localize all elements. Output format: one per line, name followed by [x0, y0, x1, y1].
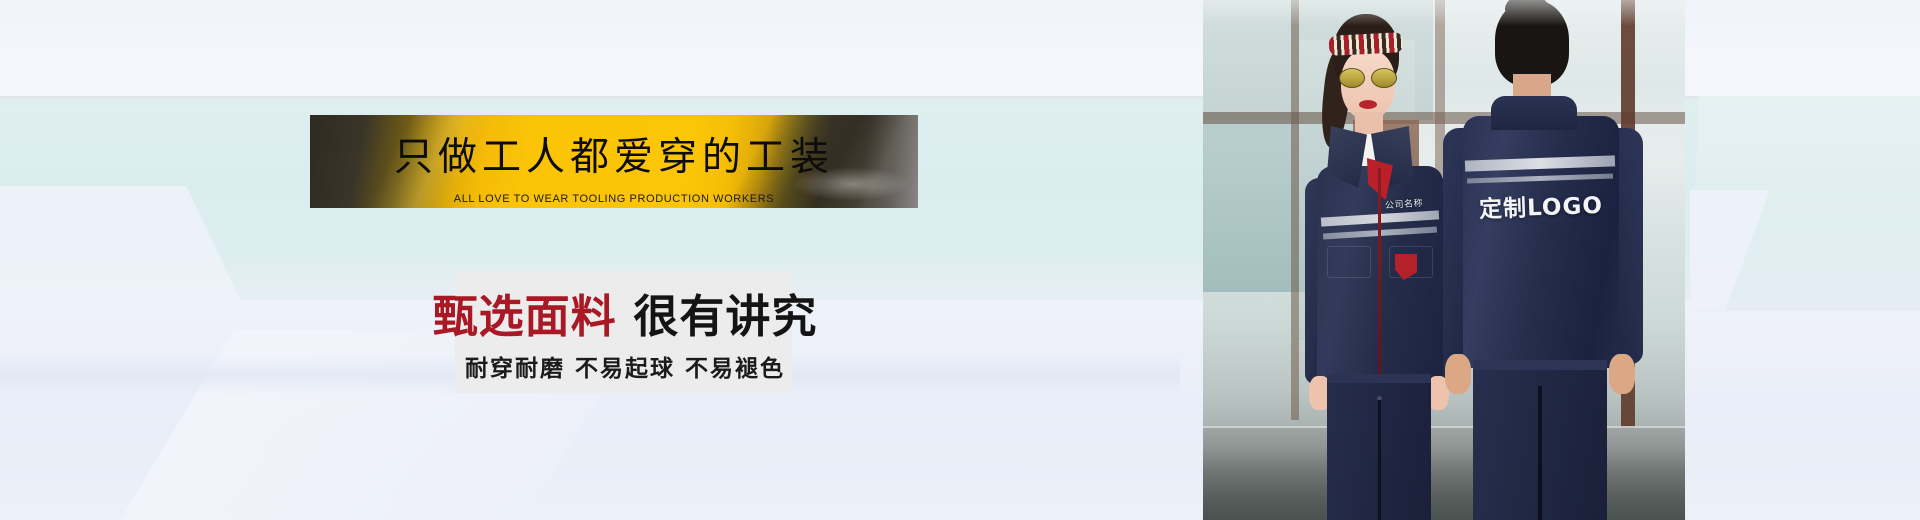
- sunglasses-icon: [1339, 68, 1397, 86]
- product-promo-banner: 只做工人都爱穿的工装 ALL LOVE TO WEAR TOOLING PROD…: [0, 0, 1920, 520]
- male-collar: [1491, 96, 1577, 130]
- female-model: 公司名称: [1299, 8, 1459, 520]
- female-jacket-zipper: [1378, 168, 1381, 382]
- chest-company-name-label: 公司名称: [1385, 196, 1424, 212]
- product-photo: 公司名称 定制LOGO: [1203, 0, 1685, 520]
- male-waistband: [1473, 360, 1607, 370]
- female-waistband: [1327, 374, 1431, 383]
- female-headband: [1329, 32, 1404, 56]
- male-model: 定制LOGO: [1443, 0, 1643, 520]
- sunglasses-lens-right: [1371, 68, 1397, 88]
- female-pocket-left: [1327, 246, 1371, 278]
- promo-subtitle-english: ALL LOVE TO WEAR TOOLING PRODUCTION WORK…: [310, 193, 918, 206]
- male-hand-right: [1609, 354, 1635, 394]
- female-leg-seam: [1378, 400, 1381, 520]
- male-work-jacket-back: [1463, 116, 1619, 368]
- promo-headline: 只做工人都爱穿的工装: [310, 135, 918, 181]
- male-hand-left: [1445, 354, 1471, 394]
- feature-subline: 耐穿耐磨 不易起球 不易褪色: [390, 352, 860, 386]
- photo-window-mullion-left: [1291, 0, 1299, 420]
- back-custom-logo-label: 定制LOGO: [1478, 186, 1603, 224]
- sunglasses-lens-left: [1339, 68, 1365, 88]
- yellow-headline-banner: 只做工人都爱穿的工装 ALL LOVE TO WEAR TOOLING PROD…: [310, 115, 918, 208]
- feature-headline-black: 很有讲究: [633, 290, 817, 343]
- feature-headline: 甄选面料 很有讲究: [390, 288, 860, 346]
- male-leg-seam: [1538, 386, 1542, 520]
- feature-headline-red: 甄选面料: [433, 290, 617, 343]
- female-lips: [1359, 100, 1377, 109]
